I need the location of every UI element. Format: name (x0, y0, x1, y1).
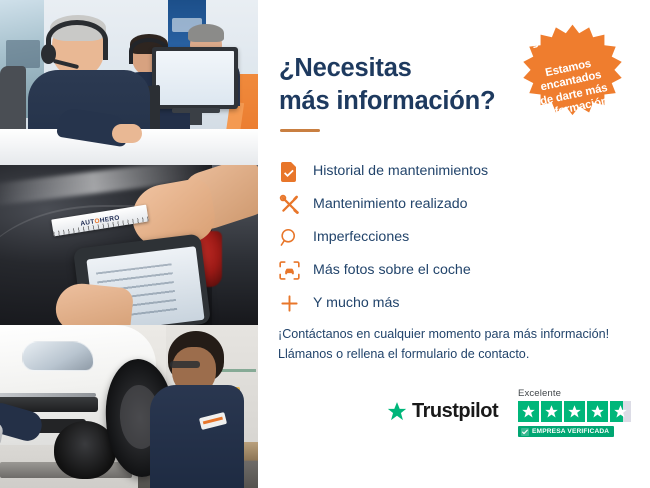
star-2 (541, 401, 562, 422)
trustpilot-logo[interactable]: Trustpilot (386, 400, 498, 423)
contact-line-1: ¡Contáctanos en cualquier momento para m… (278, 327, 609, 341)
promo-badge: Estamos encantados de darte más informac… (506, 22, 639, 155)
trustpilot-rating-label: Excelente (518, 388, 650, 399)
page-title: ¿Necesitas más información? (279, 52, 509, 117)
car-frame-icon (276, 260, 302, 282)
contact-line-2: Llámanos o rellena el formulario de cont… (278, 347, 529, 361)
mechanic (142, 331, 244, 488)
tools-cross-icon (276, 194, 302, 216)
content-panel: ¿Necesitas más información? Estamos enca… (258, 0, 650, 488)
agent-hand (112, 124, 142, 143)
desktop-monitor (152, 47, 238, 109)
feature-item-fotos: Más fotos sobre el coche (276, 254, 636, 287)
contact-paragraph: ¡Contáctanos en cualquier momento para m… (278, 325, 638, 364)
feature-item-historial: Historial de mantenimientos (276, 155, 636, 188)
photo-column: AUTOHERO (0, 0, 258, 488)
magnifier-icon (276, 227, 302, 249)
star-3 (564, 401, 585, 422)
star-1 (518, 401, 539, 422)
inspector-hand-lower (54, 281, 135, 325)
feature-label: Historial de mantenimientos (313, 164, 488, 178)
trustpilot-block: Trustpilot Excelente (386, 388, 650, 446)
feature-label: Más fotos sobre el coche (313, 263, 471, 277)
trustpilot-star-icon (386, 401, 408, 423)
feature-list: Historial de mantenimientos Mantenimient… (276, 155, 636, 320)
trustpilot-rating: Excelente (518, 388, 650, 441)
trustpilot-wordmark: Trustpilot (412, 400, 498, 423)
mechanic-wheel-photo (0, 325, 258, 488)
verified-company-badge: EMPRESA VERIFICADA (518, 426, 614, 437)
feature-item-imperfecciones: Imperfecciones (276, 221, 636, 254)
call-center-agent-photo (0, 0, 258, 165)
feature-label: Mantenimiento realizado (313, 197, 468, 211)
feature-label: Imperfecciones (313, 230, 409, 244)
star-4 (587, 401, 608, 422)
check-badge-icon (521, 428, 529, 436)
verified-company-label: EMPRESA VERIFICADA (532, 428, 609, 435)
car-inspection-ruler-photo: AUTOHERO (0, 165, 258, 325)
page-title-line-1: ¿Necesitas (279, 54, 412, 82)
page-title-line-2: más información? (279, 87, 495, 115)
promo-badge-content: Estamos encantados de darte más informac… (494, 10, 650, 168)
document-check-icon (276, 161, 302, 183)
feature-item-mantenimiento: Mantenimiento realizado (276, 188, 636, 221)
headset-icon (519, 28, 542, 51)
plus-icon (276, 293, 302, 315)
feature-item-mas: Y mucho más (276, 287, 636, 320)
title-underline-rule (280, 129, 320, 132)
star-5-partial (610, 401, 631, 422)
info-banner: AUTOHERO (0, 0, 650, 488)
trustpilot-stars (518, 401, 650, 422)
monitor-stand (172, 108, 220, 113)
feature-label: Y mucho más (313, 296, 399, 310)
